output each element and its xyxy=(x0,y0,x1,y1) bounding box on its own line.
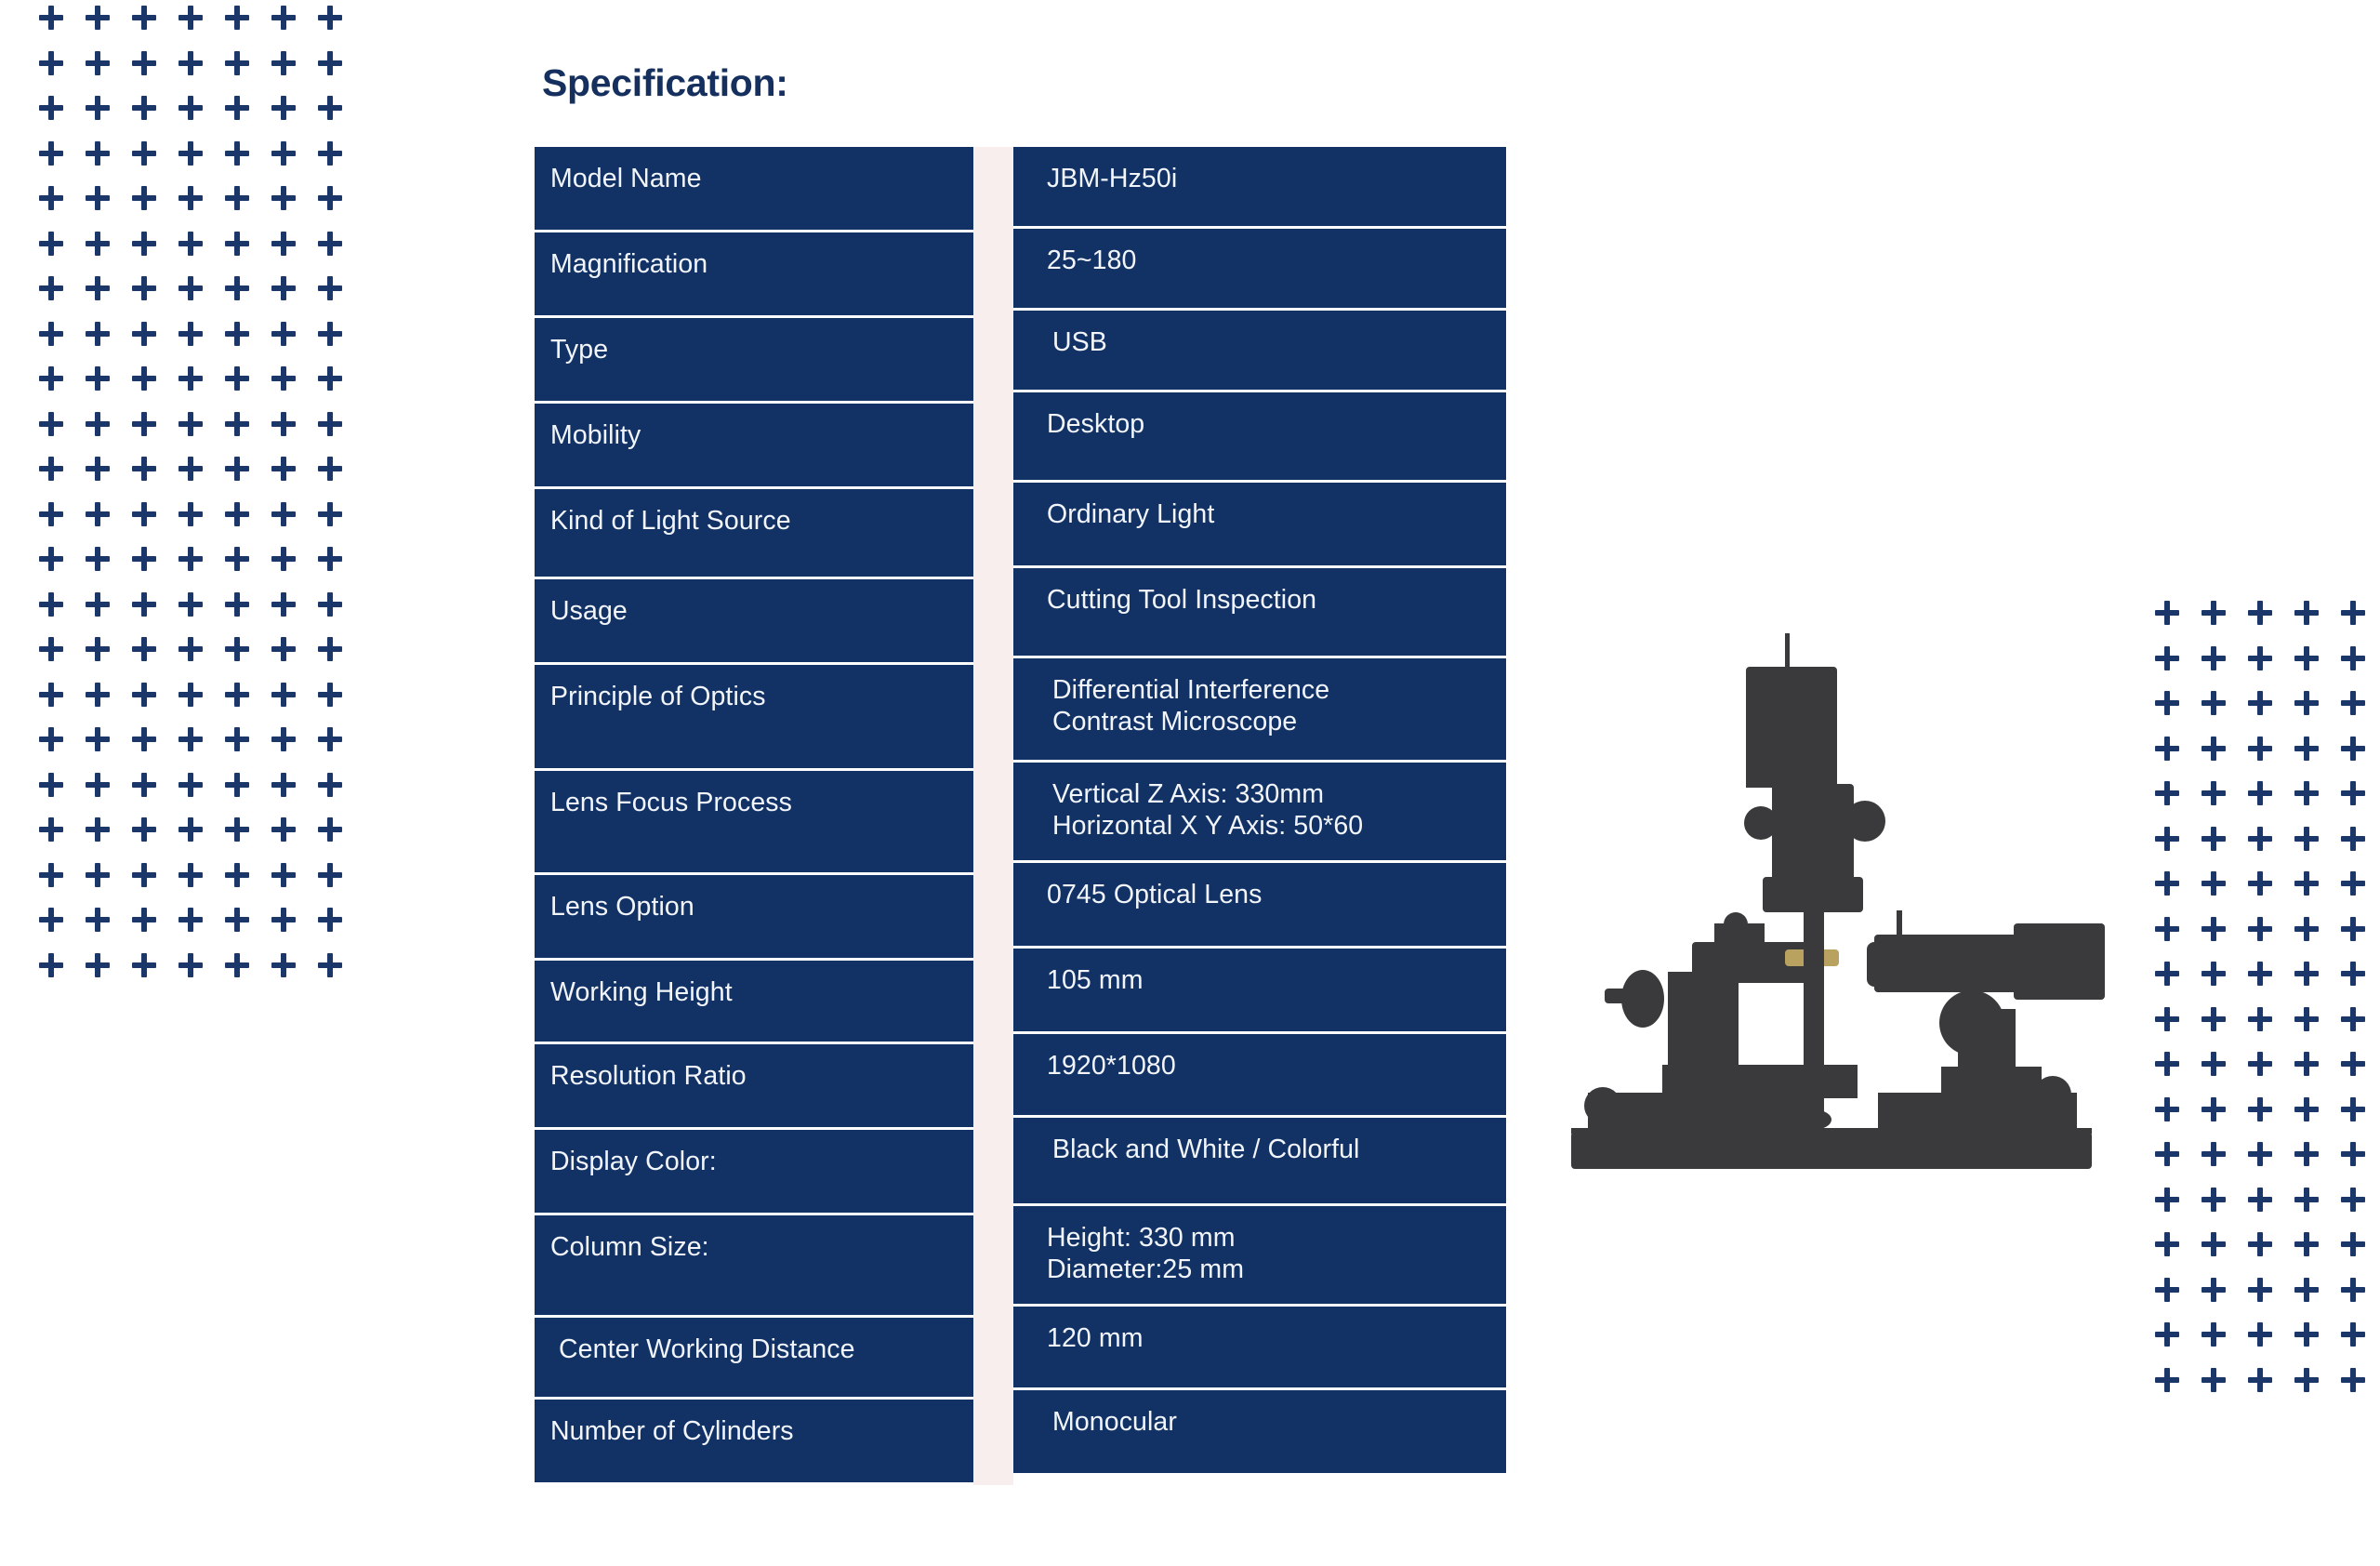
plus-icon xyxy=(2155,1232,2179,1256)
plus-icon xyxy=(318,141,342,166)
spec-value-cell: Cutting Tool Inspection xyxy=(1013,568,1506,658)
plus-icon xyxy=(2201,962,2226,986)
spec-value-cell: Height: 330 mmDiameter:25 mm xyxy=(1013,1206,1506,1307)
plus-icon xyxy=(132,96,156,120)
plus-icon xyxy=(2294,737,2319,761)
plus-row xyxy=(39,366,342,391)
plus-icon xyxy=(86,96,110,120)
plus-icon xyxy=(2201,1278,2226,1302)
plus-icon xyxy=(2155,962,2179,986)
plus-icon xyxy=(39,276,63,300)
spec-value-text: Ordinary Light xyxy=(1047,500,1506,530)
plus-icon xyxy=(86,322,110,346)
plus-icon xyxy=(2341,1232,2365,1256)
plus-icon xyxy=(39,322,63,346)
plus-icon xyxy=(2248,917,2272,941)
plus-icon xyxy=(178,547,203,571)
plus-icon xyxy=(2248,1368,2272,1392)
plus-icon xyxy=(225,51,249,75)
spec-value-cell: 25~180 xyxy=(1013,229,1506,311)
plus-icon xyxy=(39,773,63,797)
plus-icon xyxy=(2248,1142,2272,1166)
plus-row xyxy=(39,547,342,571)
spec-label-cell: Lens Focus Process xyxy=(535,771,973,875)
plus-row xyxy=(39,817,342,842)
plus-icon xyxy=(2341,1322,2365,1347)
plus-icon xyxy=(2294,1188,2319,1212)
plus-icon xyxy=(86,863,110,887)
plus-icon xyxy=(2201,737,2226,761)
spec-label-text: Center Working Distance xyxy=(559,1335,973,1365)
plus-icon xyxy=(2201,781,2226,805)
plus-row xyxy=(2155,827,2380,851)
plus-row xyxy=(2155,737,2380,761)
plus-pattern-left xyxy=(39,6,342,977)
spec-label-cell: Number of Cylinders xyxy=(535,1400,973,1485)
plus-icon xyxy=(225,322,249,346)
plus-icon xyxy=(178,366,203,391)
spec-label-cell: Column Size: xyxy=(535,1215,973,1318)
plus-icon xyxy=(2248,1278,2272,1302)
plus-icon xyxy=(39,96,63,120)
plus-icon xyxy=(271,322,296,346)
plus-icon xyxy=(132,412,156,436)
plus-icon xyxy=(178,817,203,842)
spec-value-cell: 1920*1080 xyxy=(1013,1034,1506,1118)
spec-value-text: 25~180 xyxy=(1047,246,1506,276)
plus-icon xyxy=(2248,1052,2272,1076)
plus-row xyxy=(2155,1097,2380,1121)
plus-icon xyxy=(318,637,342,661)
spec-value-text: Height: 330 mm xyxy=(1047,1224,1506,1254)
plus-icon xyxy=(86,817,110,842)
plus-icon xyxy=(132,51,156,75)
spec-label-cell: Display Color: xyxy=(535,1130,973,1215)
plus-pattern-right xyxy=(2155,601,2380,1392)
plus-icon xyxy=(2201,691,2226,715)
plus-icon xyxy=(178,953,203,977)
spec-label-text: Column Size: xyxy=(550,1233,973,1263)
plus-icon xyxy=(318,186,342,210)
spec-label-text: Lens Option xyxy=(550,893,973,922)
plus-icon xyxy=(2341,1052,2365,1076)
plus-icon xyxy=(318,727,342,751)
plus-icon xyxy=(2201,1052,2226,1076)
plus-icon xyxy=(2341,962,2365,986)
plus-icon xyxy=(132,683,156,707)
plus-icon xyxy=(132,592,156,617)
spec-value-cell: JBM-Hz50i xyxy=(1013,147,1506,229)
plus-icon xyxy=(2201,1007,2226,1031)
spec-label-text: Usage xyxy=(550,597,973,627)
plus-icon xyxy=(39,412,63,436)
spec-label-text: Type xyxy=(550,336,973,365)
plus-icon xyxy=(271,412,296,436)
plus-icon xyxy=(132,547,156,571)
plus-icon xyxy=(178,6,203,30)
plus-icon xyxy=(2248,1188,2272,1212)
plus-icon xyxy=(2294,827,2319,851)
spec-label-text: Mobility xyxy=(550,421,973,451)
plus-icon xyxy=(178,276,203,300)
plus-icon xyxy=(2341,1278,2365,1302)
plus-row xyxy=(39,683,342,707)
plus-row xyxy=(2155,1322,2380,1347)
plus-icon xyxy=(225,186,249,210)
plus-icon xyxy=(178,141,203,166)
plus-icon xyxy=(178,683,203,707)
plus-icon xyxy=(225,863,249,887)
spec-value-text: 0745 Optical Lens xyxy=(1047,881,1506,910)
plus-icon xyxy=(225,276,249,300)
plus-icon xyxy=(2248,601,2272,625)
spec-label-text: Model Name xyxy=(550,165,973,194)
plus-icon xyxy=(2294,781,2319,805)
spec-label-text: Display Color: xyxy=(550,1148,973,1177)
plus-row xyxy=(39,502,342,526)
plus-row xyxy=(2155,1007,2380,1031)
plus-icon xyxy=(2201,1142,2226,1166)
plus-row xyxy=(39,232,342,256)
plus-icon xyxy=(178,773,203,797)
plus-icon xyxy=(2155,737,2179,761)
spec-label-cell: Mobility xyxy=(535,404,973,489)
plus-icon xyxy=(86,232,110,256)
plus-icon xyxy=(178,727,203,751)
specification-label-column: Model NameMagnificationTypeMobilityKind … xyxy=(535,147,973,1485)
plus-icon xyxy=(225,637,249,661)
plus-icon xyxy=(2155,1278,2179,1302)
plus-icon xyxy=(39,141,63,166)
spec-label-cell: Type xyxy=(535,318,973,404)
plus-icon xyxy=(2294,1052,2319,1076)
plus-icon xyxy=(132,457,156,481)
plus-icon xyxy=(132,817,156,842)
plus-row xyxy=(2155,1232,2380,1256)
plus-row xyxy=(2155,917,2380,941)
plus-icon xyxy=(86,547,110,571)
plus-icon xyxy=(2248,1322,2272,1347)
plus-icon xyxy=(225,817,249,842)
plus-icon xyxy=(2248,646,2272,670)
plus-icon xyxy=(271,6,296,30)
plus-icon xyxy=(2155,917,2179,941)
plus-row xyxy=(39,276,342,300)
plus-icon xyxy=(2294,1097,2319,1121)
plus-icon xyxy=(86,502,110,526)
plus-icon xyxy=(271,592,296,617)
spec-value-text: Differential Interference xyxy=(1052,676,1506,706)
plus-icon xyxy=(2341,1368,2365,1392)
plus-icon xyxy=(271,457,296,481)
spec-value-cell: Ordinary Light xyxy=(1013,483,1506,568)
plus-icon xyxy=(2201,601,2226,625)
plus-icon xyxy=(2155,1188,2179,1212)
plus-icon xyxy=(318,502,342,526)
plus-row xyxy=(2155,871,2380,896)
plus-icon xyxy=(271,186,296,210)
plus-icon xyxy=(2294,691,2319,715)
plus-icon xyxy=(2201,827,2226,851)
spec-value-text: JBM-Hz50i xyxy=(1047,165,1506,194)
plus-icon xyxy=(225,547,249,571)
plus-icon xyxy=(2248,1232,2272,1256)
spec-label-cell: Principle of Optics xyxy=(535,665,973,771)
plus-icon xyxy=(39,727,63,751)
plus-row xyxy=(2155,1142,2380,1166)
plus-row xyxy=(39,773,342,797)
spec-label-cell: Kind of Light Source xyxy=(535,489,973,579)
plus-icon xyxy=(178,232,203,256)
plus-icon xyxy=(178,502,203,526)
specification-value-column: JBM-Hz50i25~180USBDesktopOrdinary LightC… xyxy=(1013,147,1506,1485)
spec-label-text: Principle of Optics xyxy=(550,683,973,712)
plus-icon xyxy=(39,502,63,526)
plus-icon xyxy=(2341,601,2365,625)
plus-icon xyxy=(39,908,63,932)
plus-icon xyxy=(2341,871,2365,896)
plus-icon xyxy=(225,908,249,932)
plus-icon xyxy=(86,457,110,481)
plus-icon xyxy=(86,6,110,30)
plus-icon xyxy=(132,863,156,887)
spec-label-text: Working Height xyxy=(550,978,973,1008)
plus-row xyxy=(39,412,342,436)
plus-icon xyxy=(2201,917,2226,941)
spec-value-text-line2: Horizontal X Y Axis: 50*60 xyxy=(1052,812,1506,842)
plus-row xyxy=(2155,646,2380,670)
plus-icon xyxy=(2201,1188,2226,1212)
plus-icon xyxy=(178,322,203,346)
spec-value-cell: Monocular xyxy=(1013,1390,1506,1476)
plus-icon xyxy=(271,502,296,526)
plus-icon xyxy=(318,322,342,346)
plus-icon xyxy=(225,366,249,391)
plus-icon xyxy=(318,592,342,617)
plus-row xyxy=(2155,1278,2380,1302)
plus-icon xyxy=(2341,1188,2365,1212)
plus-icon xyxy=(132,908,156,932)
spec-value-text: Cutting Tool Inspection xyxy=(1047,586,1506,616)
plus-icon xyxy=(86,637,110,661)
plus-icon xyxy=(2341,917,2365,941)
plus-icon xyxy=(2341,1097,2365,1121)
plus-icon xyxy=(132,727,156,751)
plus-icon xyxy=(86,727,110,751)
plus-icon xyxy=(39,547,63,571)
plus-icon xyxy=(271,863,296,887)
plus-icon xyxy=(318,547,342,571)
spec-value-text: 105 mm xyxy=(1047,966,1506,996)
spec-value-text: Vertical Z Axis: 330mm xyxy=(1052,780,1506,810)
plus-icon xyxy=(2294,1278,2319,1302)
spec-value-cell: Black and White / Colorful xyxy=(1013,1118,1506,1206)
spec-value-text: Black and White / Colorful xyxy=(1052,1135,1506,1165)
plus-icon xyxy=(39,683,63,707)
plus-row xyxy=(39,51,342,75)
plus-row xyxy=(39,953,342,977)
plus-row xyxy=(39,727,342,751)
plus-icon xyxy=(86,186,110,210)
plus-icon xyxy=(178,908,203,932)
plus-icon xyxy=(225,6,249,30)
plus-icon xyxy=(2155,601,2179,625)
plus-icon xyxy=(178,51,203,75)
plus-icon xyxy=(132,186,156,210)
spec-label-text: Kind of Light Source xyxy=(550,507,973,537)
plus-icon xyxy=(318,51,342,75)
spec-value-text: 1920*1080 xyxy=(1047,1052,1506,1082)
spec-value-cell: Desktop xyxy=(1013,392,1506,483)
spec-label-cell: Magnification xyxy=(535,232,973,318)
plus-icon xyxy=(39,457,63,481)
plus-icon xyxy=(225,457,249,481)
spec-value-text: USB xyxy=(1052,328,1506,358)
plus-icon xyxy=(318,6,342,30)
plus-icon xyxy=(2155,1007,2179,1031)
specification-table: Model NameMagnificationTypeMobilityKind … xyxy=(535,147,1506,1485)
plus-icon xyxy=(318,908,342,932)
plus-icon xyxy=(2294,917,2319,941)
plus-icon xyxy=(271,727,296,751)
plus-icon xyxy=(2341,1007,2365,1031)
plus-icon xyxy=(86,773,110,797)
plus-row xyxy=(2155,1052,2380,1076)
column-separator xyxy=(973,147,1013,1485)
plus-icon xyxy=(86,953,110,977)
spec-label-text: Lens Focus Process xyxy=(550,789,973,818)
spec-value-text: Desktop xyxy=(1047,410,1506,440)
plus-icon xyxy=(2201,871,2226,896)
spec-label-text: Magnification xyxy=(550,250,973,280)
plus-row xyxy=(39,908,342,932)
plus-icon xyxy=(132,502,156,526)
plus-icon xyxy=(225,412,249,436)
plus-row xyxy=(39,863,342,887)
plus-icon xyxy=(318,863,342,887)
plus-icon xyxy=(271,637,296,661)
plus-icon xyxy=(2155,1368,2179,1392)
plus-icon xyxy=(132,637,156,661)
plus-icon xyxy=(86,366,110,391)
plus-icon xyxy=(318,817,342,842)
plus-icon xyxy=(39,863,63,887)
plus-icon xyxy=(271,96,296,120)
plus-icon xyxy=(2248,781,2272,805)
plus-row xyxy=(2155,601,2380,625)
plus-row xyxy=(39,96,342,120)
plus-icon xyxy=(2341,781,2365,805)
plus-icon xyxy=(2155,827,2179,851)
plus-icon xyxy=(271,953,296,977)
plus-icon xyxy=(2248,962,2272,986)
plus-icon xyxy=(271,817,296,842)
plus-icon xyxy=(225,141,249,166)
plus-icon xyxy=(271,683,296,707)
plus-icon xyxy=(2248,827,2272,851)
spec-label-cell: Lens Option xyxy=(535,875,973,961)
plus-icon xyxy=(86,683,110,707)
plus-icon xyxy=(2201,1097,2226,1121)
plus-icon xyxy=(318,232,342,256)
plus-icon xyxy=(271,908,296,932)
spec-value-text: 120 mm xyxy=(1047,1324,1506,1354)
plus-icon xyxy=(2248,691,2272,715)
plus-row xyxy=(39,141,342,166)
plus-icon xyxy=(318,683,342,707)
plus-icon xyxy=(2294,601,2319,625)
plus-icon xyxy=(39,232,63,256)
plus-icon xyxy=(132,366,156,391)
spec-value-text-line2: Diameter:25 mm xyxy=(1047,1255,1506,1285)
plus-icon xyxy=(2341,1142,2365,1166)
plus-icon xyxy=(2155,781,2179,805)
plus-icon xyxy=(271,276,296,300)
spec-label-cell: Resolution Ratio xyxy=(535,1044,973,1130)
plus-row xyxy=(2155,1188,2380,1212)
plus-icon xyxy=(2155,1142,2179,1166)
plus-row xyxy=(39,457,342,481)
plus-row xyxy=(2155,691,2380,715)
plus-icon xyxy=(132,773,156,797)
plus-icon xyxy=(2155,691,2179,715)
plus-icon xyxy=(318,96,342,120)
spec-label-cell: Center Working Distance xyxy=(535,1318,973,1400)
plus-row xyxy=(39,6,342,30)
plus-icon xyxy=(271,232,296,256)
product-photo xyxy=(1551,600,2109,1223)
plus-icon xyxy=(2294,1142,2319,1166)
plus-icon xyxy=(132,322,156,346)
plus-icon xyxy=(318,773,342,797)
plus-icon xyxy=(39,6,63,30)
plus-row xyxy=(39,592,342,617)
spec-label-cell: Working Height xyxy=(535,961,973,1044)
plus-icon xyxy=(2201,1232,2226,1256)
plus-icon xyxy=(178,637,203,661)
spec-value-text-line2: Contrast Microscope xyxy=(1052,708,1506,737)
spec-value-cell: 120 mm xyxy=(1013,1307,1506,1390)
plus-icon xyxy=(271,547,296,571)
plus-icon xyxy=(39,592,63,617)
plus-row xyxy=(2155,962,2380,986)
plus-icon xyxy=(2294,871,2319,896)
plus-icon xyxy=(2294,1007,2319,1031)
spec-value-cell: 105 mm xyxy=(1013,949,1506,1034)
plus-icon xyxy=(318,412,342,436)
plus-icon xyxy=(2248,871,2272,896)
plus-icon xyxy=(2341,646,2365,670)
plus-icon xyxy=(225,502,249,526)
plus-icon xyxy=(225,683,249,707)
plus-icon xyxy=(132,141,156,166)
plus-row xyxy=(39,322,342,346)
plus-icon xyxy=(132,953,156,977)
plus-icon xyxy=(132,232,156,256)
plus-icon xyxy=(225,592,249,617)
plus-row xyxy=(2155,781,2380,805)
plus-row xyxy=(39,186,342,210)
plus-icon xyxy=(271,141,296,166)
plus-icon xyxy=(2201,1368,2226,1392)
plus-icon xyxy=(225,773,249,797)
plus-icon xyxy=(86,276,110,300)
plus-icon xyxy=(2294,646,2319,670)
plus-icon xyxy=(2248,1007,2272,1031)
plus-icon xyxy=(86,908,110,932)
plus-icon xyxy=(318,953,342,977)
plus-icon xyxy=(225,232,249,256)
